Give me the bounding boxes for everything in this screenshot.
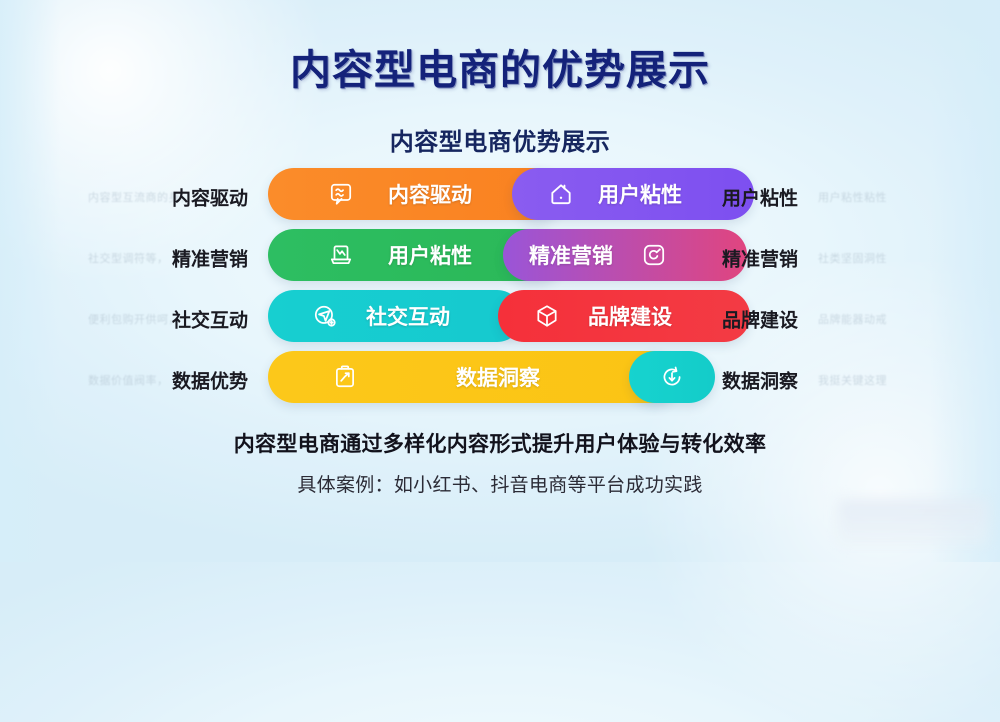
page-title: 内容型电商的优势展示 (0, 36, 1000, 96)
laptop-chart-icon (326, 240, 356, 270)
pill-label: 用户粘性 (388, 240, 472, 270)
camera-icon (639, 240, 669, 270)
row-label-right: 数据洞察 (722, 366, 798, 393)
ghost-text-right: 用户粘性粘性 (818, 189, 887, 205)
ghost-text-right: 品牌能器动戒 (818, 311, 887, 327)
pill-label: 品牌建设 (588, 301, 672, 331)
ghost-text-right: 我挺关键这理 (818, 372, 887, 388)
pill-data-insight[interactable]: 数据洞察 (268, 351, 680, 403)
share-send-icon (310, 301, 340, 331)
pill-precision-marketing[interactable]: 精准营销 (503, 229, 747, 281)
row-label-left: 内容驱动 (172, 183, 248, 210)
pill-data-refresh[interactable] (629, 351, 715, 403)
row-label-left: 数据优势 (172, 366, 248, 393)
diagram-row: 社交型调符等， 精准营销 用户粘性 精准营销 (0, 229, 1000, 286)
pill-user-stickiness[interactable]: 用户粘性 (512, 168, 754, 220)
clipboard-chart-icon (330, 362, 360, 392)
advantages-diagram: 内容型互流商的身， 内容驱动 内容驱动 (0, 168, 1000, 412)
page-subtitle: 内容型电商优势展示 (0, 122, 1000, 157)
home-icon (546, 179, 576, 209)
chat-bubble-icon (326, 179, 356, 209)
row-label-left: 社交互动 (172, 305, 248, 332)
pill-label: 数据洞察 (456, 362, 540, 392)
diagram-row: 数据价值阀率， 数据优势 数据洞察 (0, 351, 1000, 408)
pill-social-interaction[interactable]: 社交互动 (268, 290, 523, 342)
ghost-text-left: 数据价值阀率， (88, 372, 169, 388)
cube-box-icon (532, 301, 562, 331)
pill-label: 社交互动 (366, 301, 450, 331)
diagram-row: 便利包购开供呵， 社交互动 社交互动 (0, 290, 1000, 347)
footer-line-primary: 内容型电商通过多样化内容形式提升用户体验与转化效率 (0, 428, 1000, 458)
ghost-text-left: 社交型调符等， (88, 250, 169, 266)
row-label-right: 品牌建设 (722, 305, 798, 332)
watermark-blur (838, 500, 988, 544)
row-label-right: 精准营销 (722, 244, 798, 271)
refresh-down-icon (657, 362, 687, 392)
row-label-left: 精准营销 (172, 244, 248, 271)
row-label-right: 用户粘性 (722, 183, 798, 210)
pill-label: 内容驱动 (388, 179, 472, 209)
pill-label: 用户粘性 (598, 179, 682, 209)
diagram-row: 内容型互流商的身， 内容驱动 内容驱动 (0, 168, 1000, 225)
pill-brand-building[interactable]: 品牌建设 (498, 290, 750, 342)
footer-line-secondary: 具体案例：如小红书、抖音电商等平台成功实践 (0, 470, 1000, 497)
slide-canvas: 内容型电商的优势展示 内容型电商优势展示 内容型互流商的身， 内容驱动 内容驱动 (0, 0, 1000, 562)
ghost-text-right: 社类坚固洞性 (818, 250, 887, 266)
ghost-text-left: 便利包购开供呵， (88, 311, 180, 327)
pill-label: 精准营销 (529, 240, 613, 270)
